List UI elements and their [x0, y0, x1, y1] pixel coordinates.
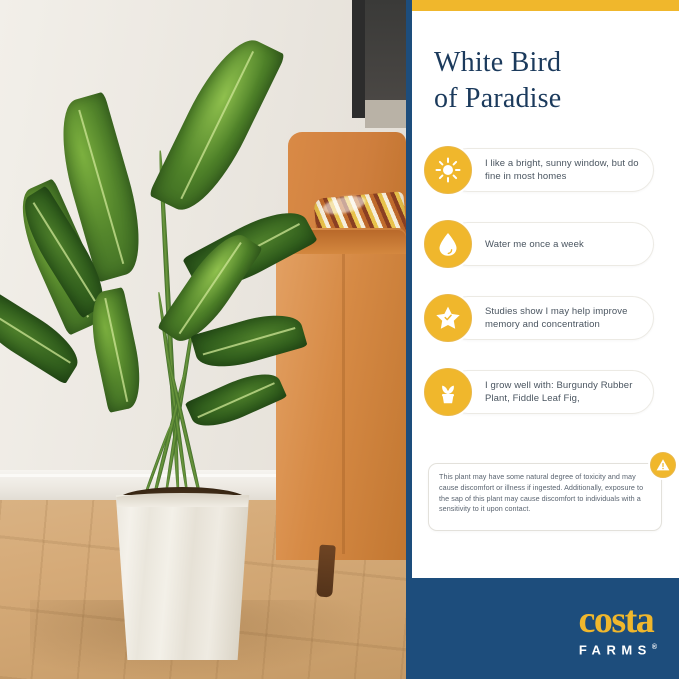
- care-card: I like a bright, sunny window, but do fi…: [446, 148, 654, 192]
- care-card: Water me once a week: [446, 222, 654, 266]
- care-item-label: I grow well with: Burgundy Rubber Plant,…: [485, 379, 643, 405]
- water-drop-icon: [424, 220, 472, 268]
- costa-farms-logo: costa FARMS®: [575, 600, 657, 658]
- care-item-companions: I grow well with: Burgundy Rubber Plant,…: [418, 368, 673, 416]
- care-card: I grow well with: Burgundy Rubber Plant,…: [446, 370, 654, 414]
- toxicity-disclaimer: This plant may have some natural degree …: [428, 463, 662, 531]
- care-item-label: Studies show I may help improve memory a…: [485, 305, 643, 331]
- star-icon: [424, 294, 472, 342]
- gold-top-bar: [412, 0, 679, 11]
- page-title: White Bird of Paradise: [434, 45, 561, 117]
- toxicity-disclaimer-text: This plant may have some natural degree …: [429, 464, 661, 515]
- info-panel: White Bird of Paradise I like a bright, …: [412, 11, 679, 578]
- doorway-dark-panel: [365, 0, 406, 100]
- care-item-label: I like a bright, sunny window, but do fi…: [485, 157, 643, 183]
- care-card: Studies show I may help improve memory a…: [446, 296, 654, 340]
- logo-farms-text: FARMS: [579, 642, 652, 657]
- care-item-benefit: Studies show I may help improve memory a…: [418, 294, 673, 342]
- care-list: I like a bright, sunny window, but do fi…: [418, 146, 673, 442]
- page-title-line-1: White Bird: [434, 45, 561, 81]
- plant-pot: [110, 495, 255, 660]
- sun-icon: [424, 146, 472, 194]
- logo-wordmark-primary: costa: [575, 600, 657, 640]
- plant-pot-rim: [110, 493, 255, 507]
- product-photo: [0, 0, 406, 679]
- potted-plant-icon: [424, 368, 472, 416]
- care-item-label: Water me once a week: [485, 238, 584, 251]
- care-item-light: I like a bright, sunny window, but do fi…: [418, 146, 673, 194]
- page-title-line-2: of Paradise: [434, 81, 561, 117]
- doorway-frame: [352, 0, 365, 118]
- sofa-arm: [276, 230, 406, 560]
- care-item-water: Water me once a week: [418, 220, 673, 268]
- logo-trademark: ®: [652, 644, 657, 651]
- doorway-lower-panel: [365, 100, 406, 128]
- logo-wordmark-secondary: FARMS®: [579, 640, 657, 658]
- warning-triangle-icon: [650, 452, 676, 478]
- sofa-crease: [342, 254, 345, 554]
- brand-footer: costa FARMS®: [412, 578, 679, 679]
- product-infographic: White Bird of Paradise I like a bright, …: [0, 0, 679, 679]
